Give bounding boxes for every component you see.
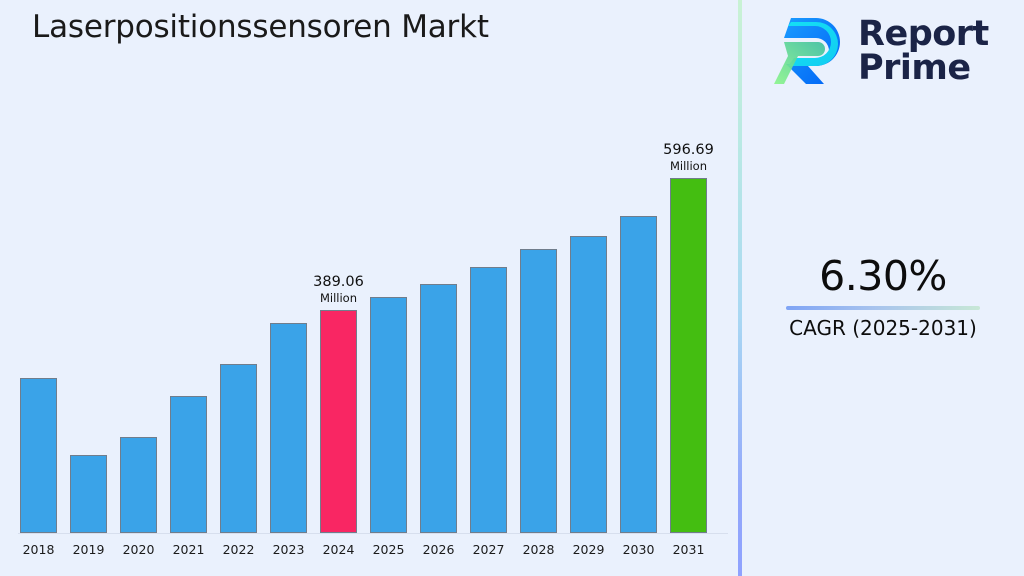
bar-2030[interactable] [620, 0, 657, 533]
bar-2023[interactable] [270, 0, 307, 533]
bar-rect-2022[interactable] [220, 364, 257, 533]
bar-value-label-2024: 389.06Million [313, 275, 364, 304]
bar-2027[interactable] [470, 0, 507, 533]
x-tick-2024: 2024 [320, 542, 357, 557]
brand-logo: Report Prime [774, 12, 989, 90]
bar-2022[interactable] [220, 0, 257, 533]
bar-value-label-2031: 596.69Million [663, 143, 714, 172]
report-prime-logo-icon [774, 12, 846, 90]
x-tick-2027: 2027 [470, 542, 507, 557]
cagr-caption: CAGR (2025-2031) [742, 316, 1024, 340]
x-tick-2030: 2030 [620, 542, 657, 557]
bar-rect-2031[interactable] [670, 178, 707, 533]
bar-rect-2029[interactable] [570, 236, 607, 533]
bar-unit-2031: Million [663, 160, 714, 172]
bar-2025[interactable] [370, 0, 407, 533]
x-axis-tick-labels: 2018201920202021202220232024202520262027… [20, 542, 730, 568]
bar-2029[interactable] [570, 0, 607, 533]
bar-rect-2020[interactable] [120, 437, 157, 533]
bar-2026[interactable] [420, 0, 457, 533]
bar-2031[interactable]: 596.69Million [670, 0, 707, 533]
bar-2018[interactable] [20, 0, 57, 533]
x-tick-2026: 2026 [420, 542, 457, 557]
brand-line-1: Report [858, 17, 989, 51]
bar-rect-2028[interactable] [520, 249, 557, 533]
bar-2028[interactable] [520, 0, 557, 533]
bar-series: 389.06Million596.69Million [20, 0, 730, 533]
bar-2021[interactable] [170, 0, 207, 533]
brand-line-2: Prime [858, 51, 989, 85]
x-tick-2031: 2031 [670, 542, 707, 557]
x-tick-2022: 2022 [220, 542, 257, 557]
bar-rect-2025[interactable] [370, 297, 407, 533]
cagr-divider-rule [786, 306, 980, 310]
bar-rect-2018[interactable] [20, 378, 57, 533]
bar-rect-2023[interactable] [270, 323, 307, 533]
cagr-block: 6.30% CAGR (2025-2031) [742, 252, 1024, 340]
bar-rect-2019[interactable] [70, 455, 107, 533]
x-tick-2020: 2020 [120, 542, 157, 557]
bar-rect-2021[interactable] [170, 396, 207, 533]
x-tick-2029: 2029 [570, 542, 607, 557]
cagr-value: 6.30% [742, 252, 1024, 300]
bar-2024[interactable]: 389.06Million [320, 0, 357, 533]
x-tick-2019: 2019 [70, 542, 107, 557]
bar-value-2031: 596.69 [663, 143, 714, 158]
bar-rect-2030[interactable] [620, 216, 657, 533]
brand-wordmark: Report Prime [858, 17, 989, 86]
brand-panel: Report Prime 6.30% CAGR (2025-2031) [742, 0, 1024, 576]
bar-2019[interactable] [70, 0, 107, 533]
x-axis-line [18, 533, 728, 534]
x-tick-2028: 2028 [520, 542, 557, 557]
bar-rect-2024[interactable] [320, 310, 357, 533]
bar-2020[interactable] [120, 0, 157, 533]
bar-value-2024: 389.06 [313, 275, 364, 290]
bar-unit-2024: Million [313, 292, 364, 304]
x-tick-2018: 2018 [20, 542, 57, 557]
bar-rect-2026[interactable] [420, 284, 457, 533]
x-tick-2021: 2021 [170, 542, 207, 557]
x-tick-2023: 2023 [270, 542, 307, 557]
chart-panel: Laserpositionssensoren Markt 389.06Milli… [0, 0, 738, 576]
x-tick-2025: 2025 [370, 542, 407, 557]
bar-rect-2027[interactable] [470, 267, 507, 533]
bar-chart-plot: 389.06Million596.69Million 2018201920202… [0, 0, 738, 576]
